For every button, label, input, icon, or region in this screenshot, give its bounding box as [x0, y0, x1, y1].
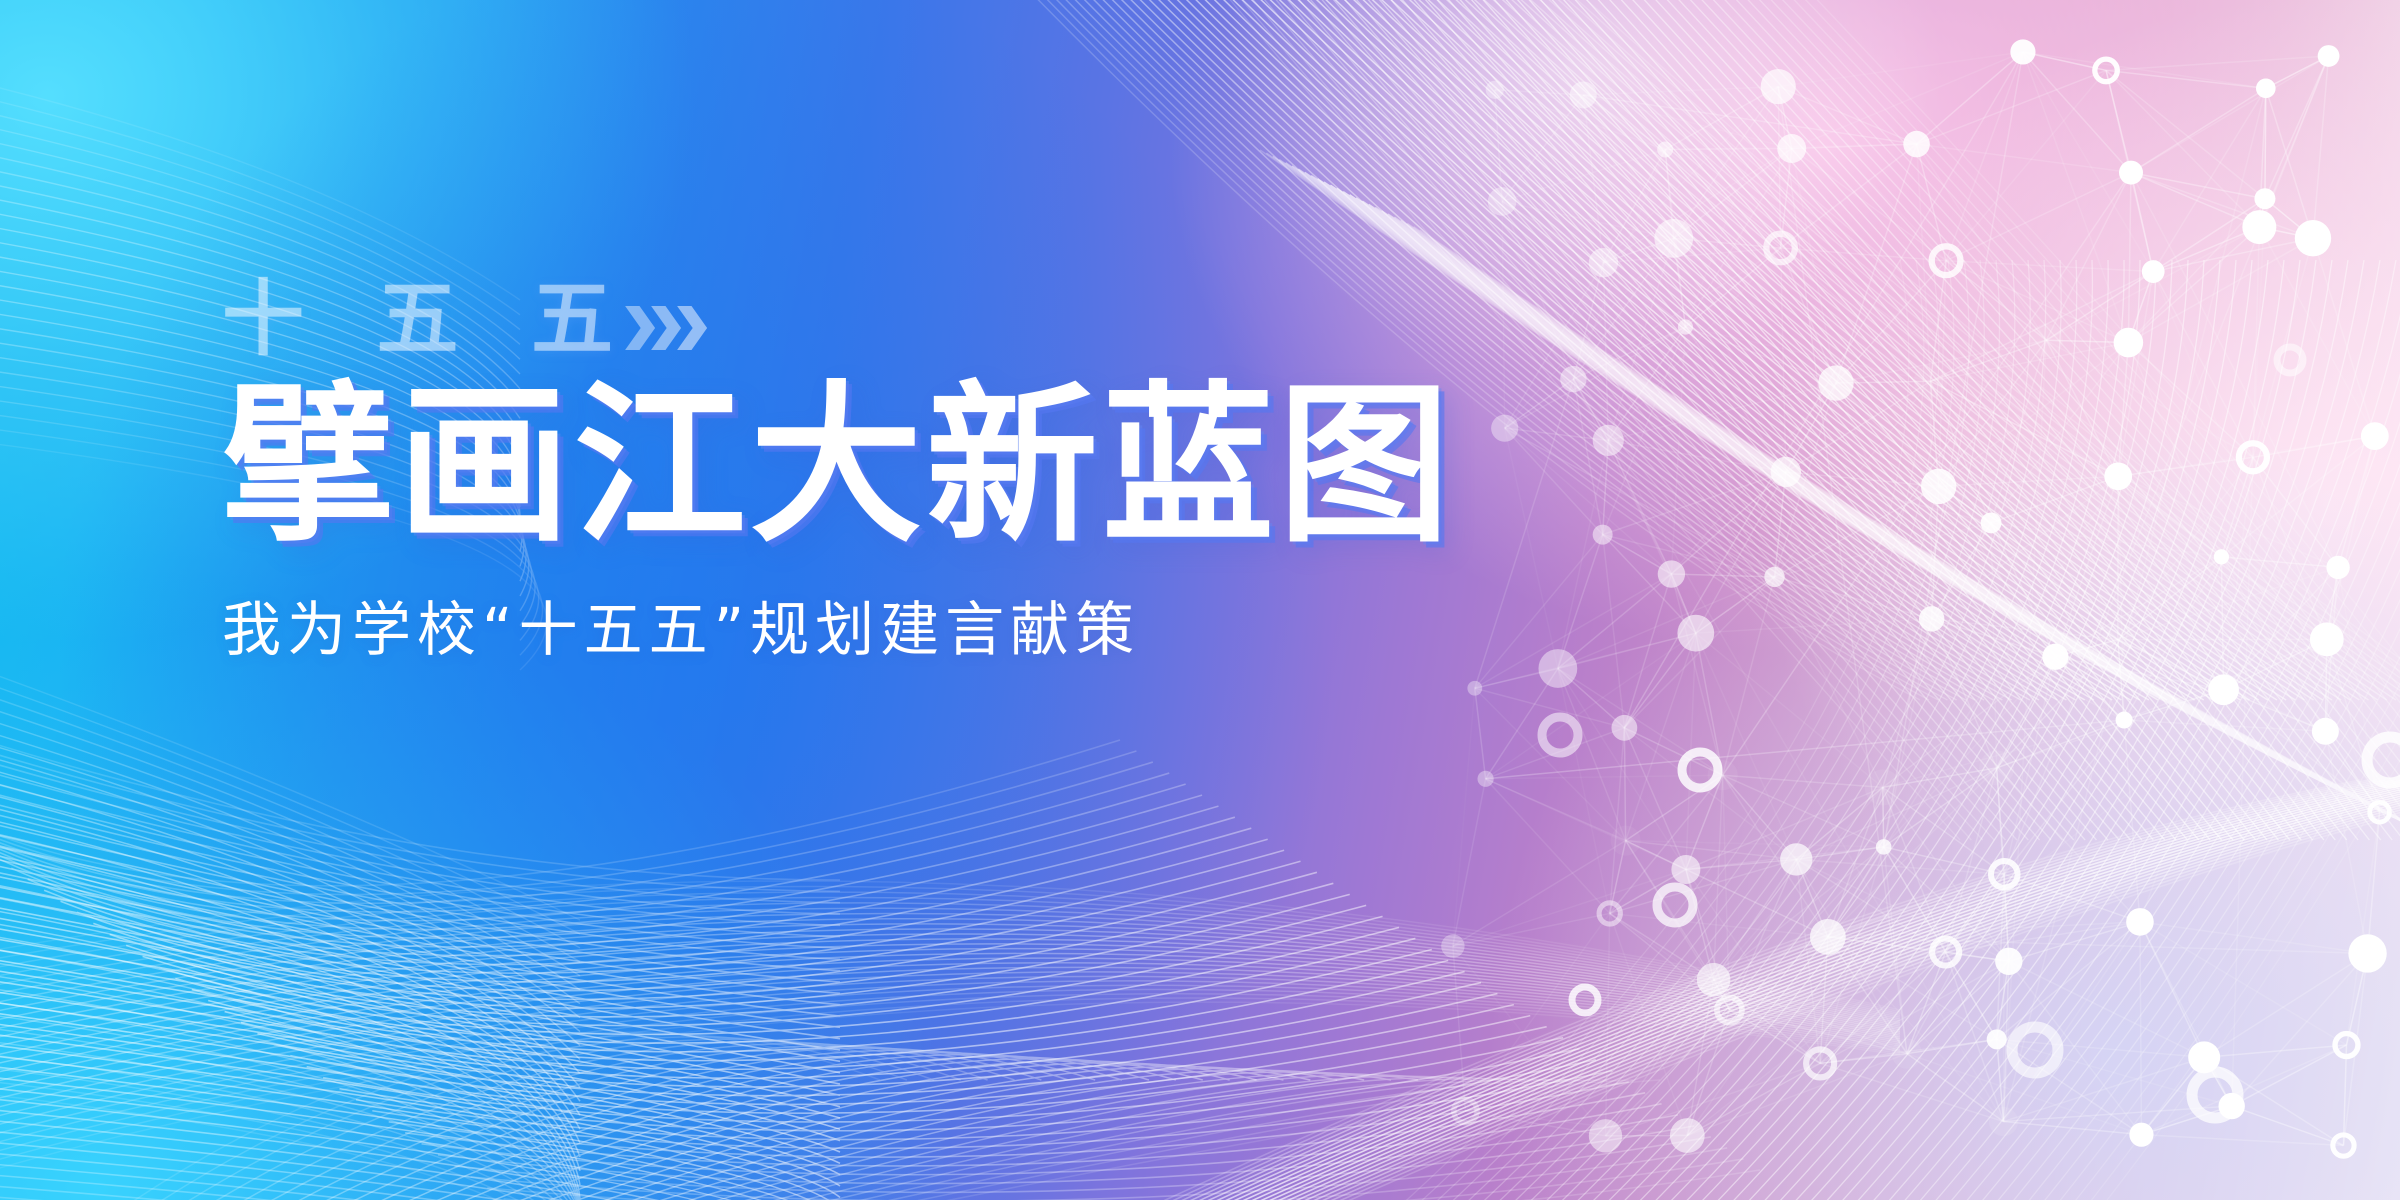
chevron-right-icon [625, 306, 655, 350]
chevron-right-icon [651, 306, 681, 350]
chevron-right-icon [677, 306, 707, 350]
page-subtitle: 我为学校“十五五”规划建言献策 [222, 598, 1522, 663]
banner-content: 十 五 五 擘画江大新蓝图 我为学校“十五五”规划建言献策 [222, 268, 1522, 663]
eyebrow-label: 十 五 五 [222, 279, 635, 361]
promo-banner: 十 五 五 擘画江大新蓝图 我为学校“十五五”规划建言献策 [0, 0, 2400, 1200]
eyebrow-row: 十 五 五 [222, 268, 1522, 372]
chevron-group [629, 306, 707, 350]
page-title: 擘画江大新蓝图 [222, 382, 1522, 554]
